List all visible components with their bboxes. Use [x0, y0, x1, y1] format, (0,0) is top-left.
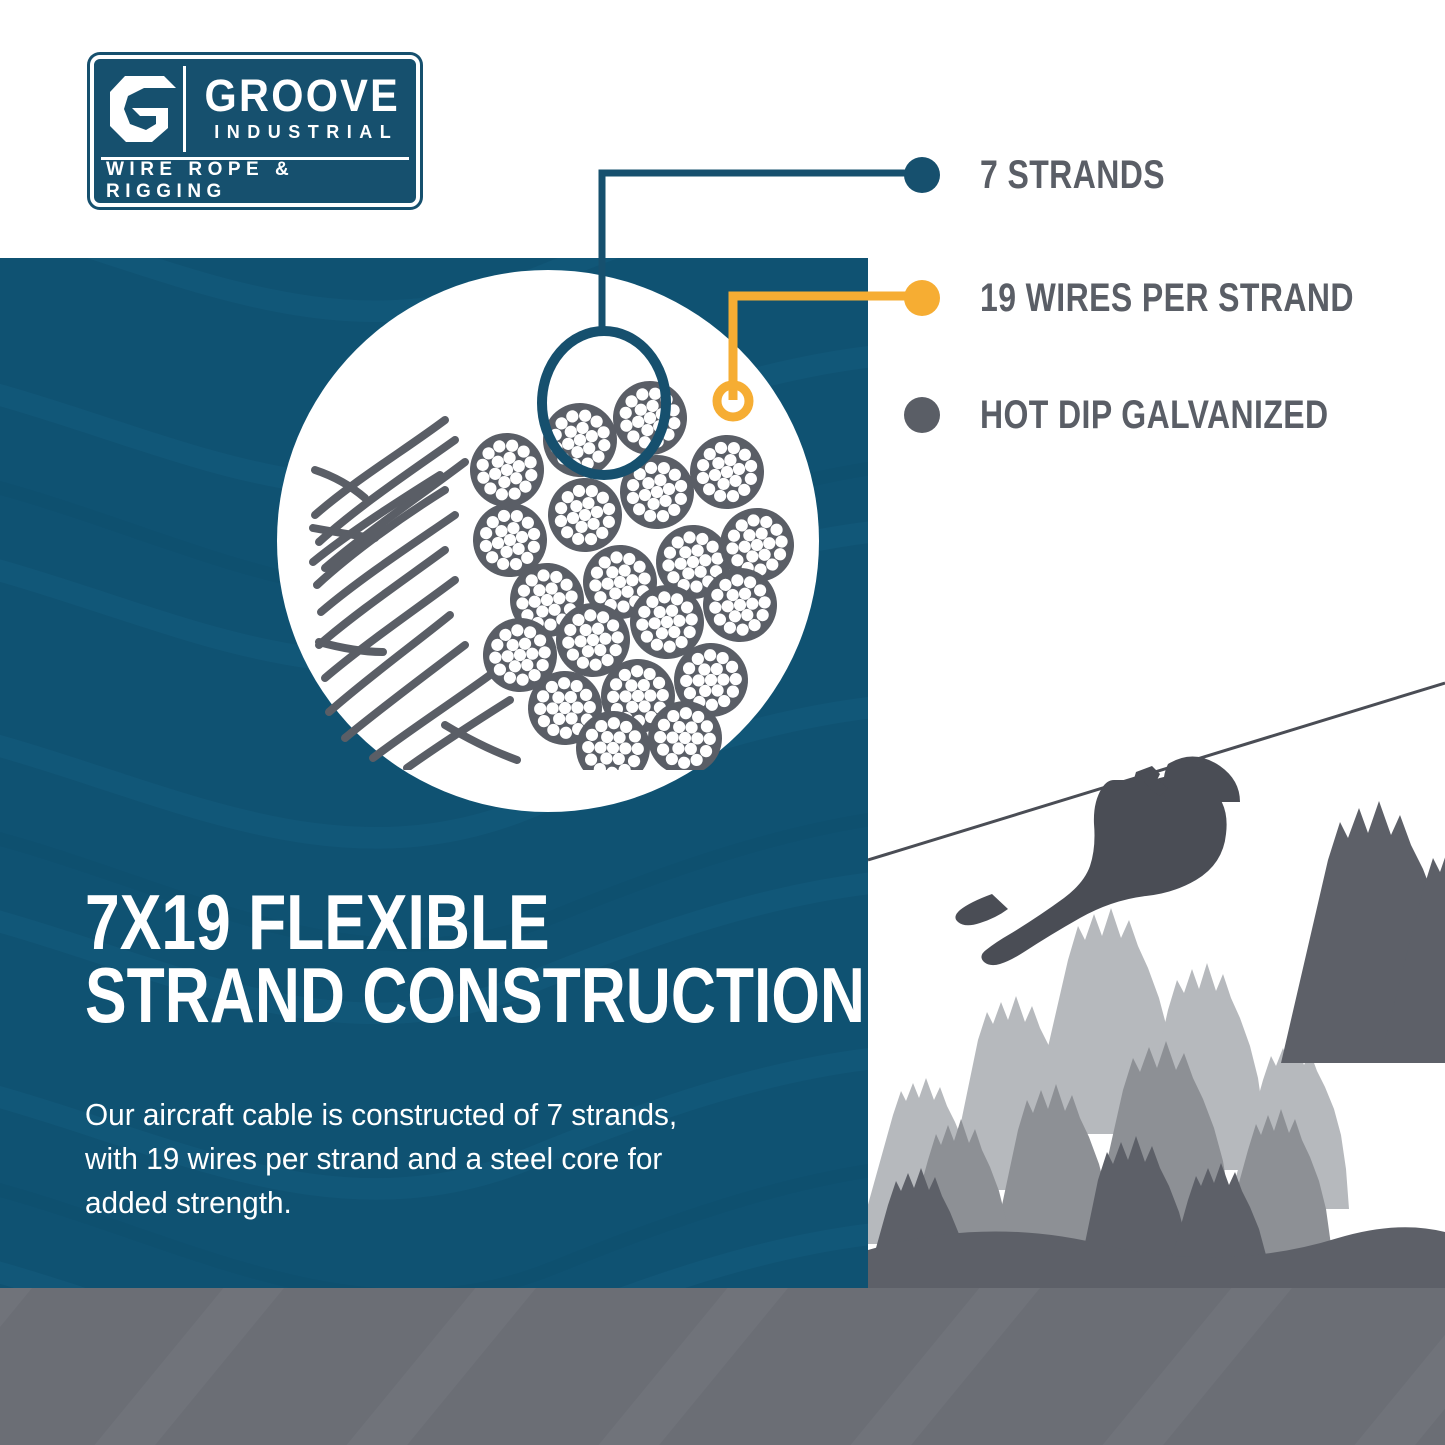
- callout-label-wires: 19 WIRES PER STRAND: [980, 278, 1354, 318]
- logo-brand-text: GROOVE: [205, 75, 401, 118]
- callout-dot-blue: [904, 157, 940, 193]
- bottom-accent-bar: [0, 1288, 1445, 1445]
- logo-subbrand-text: INDUSTRIAL: [207, 122, 398, 143]
- callout-item-strands[interactable]: 7 STRANDS: [904, 155, 1211, 195]
- logo-tagline-text: WIRE ROPE & RIGGING: [101, 159, 409, 203]
- groove-g-hexagon-icon: [101, 66, 186, 152]
- zipline-rider-forest-photo: [868, 660, 1445, 1288]
- callout-item-galvanized[interactable]: HOT DIP GALVANIZED: [904, 395, 1416, 435]
- infographic-canvas: 7 STRANDS 19 WIRES PER STRAND HOT DIP GA…: [0, 0, 1445, 1445]
- callout-item-wires[interactable]: 19 WIRES PER STRAND: [904, 278, 1445, 318]
- callout-label-strands: 7 STRANDS: [980, 155, 1165, 195]
- headline-block: 7X19 FLEXIBLE STRAND CONSTRUCTION: [85, 886, 845, 1031]
- headline-line-1: 7X19 FLEXIBLE: [85, 886, 693, 959]
- callout-label-galvanized: HOT DIP GALVANIZED: [980, 395, 1329, 435]
- callout-dot-orange: [904, 280, 940, 316]
- headline-line-2: STRAND CONSTRUCTION: [85, 959, 693, 1032]
- bottom-wave-texture-icon: [0, 1288, 1445, 1445]
- callout-dot-gray: [904, 397, 940, 433]
- brand-logo[interactable]: GROOVE INDUSTRIAL WIRE ROPE & RIGGING: [90, 55, 420, 207]
- body-paragraph: Our aircraft cable is constructed of 7 s…: [85, 1093, 719, 1225]
